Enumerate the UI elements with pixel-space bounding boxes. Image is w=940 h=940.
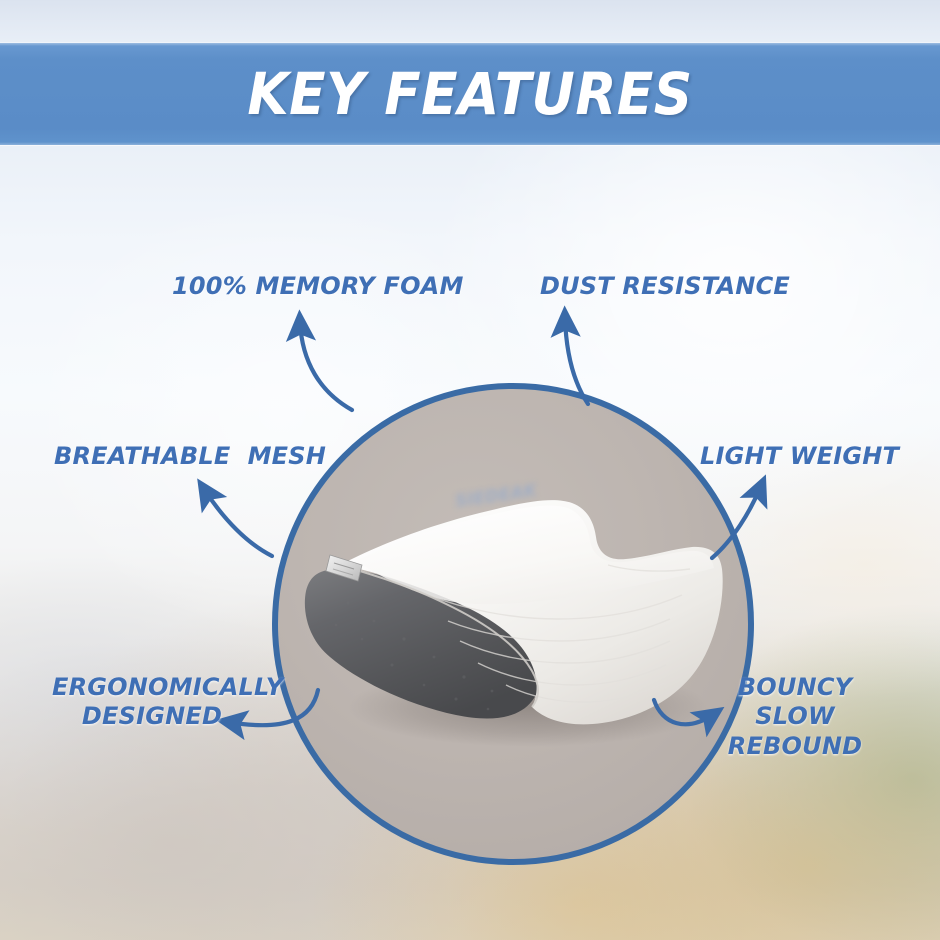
pillow-illustration: SIEDEAK	[278, 389, 748, 859]
page-title: KEY FEATURES	[247, 60, 692, 128]
product-circle-ring: SIEDEAK	[272, 383, 754, 865]
feature-label-bouncy-slow-rebound: BOUNCY SLOW REBOUND	[710, 673, 880, 761]
feature-label-dust-resistance: DUST RESISTANCE	[540, 272, 790, 301]
header-banner: KEY FEATURES	[0, 43, 940, 145]
banner-top-highlight	[0, 43, 940, 46]
feature-label-light-weight: LIGHT WEIGHT	[700, 442, 899, 471]
product-circle: SIEDEAK	[272, 383, 754, 865]
feature-label-ergonomically-designed: ERGONOMICALLY DESIGNED	[52, 673, 252, 732]
feature-label-breathable-mesh: BREATHABLE MESH	[54, 442, 326, 471]
feature-label-memory-foam: 100% MEMORY FOAM	[172, 272, 464, 301]
key-features-infographic: KEY FEATURES	[0, 0, 940, 940]
background-top-wash	[0, 0, 940, 46]
banner-bottom-highlight	[0, 142, 940, 145]
